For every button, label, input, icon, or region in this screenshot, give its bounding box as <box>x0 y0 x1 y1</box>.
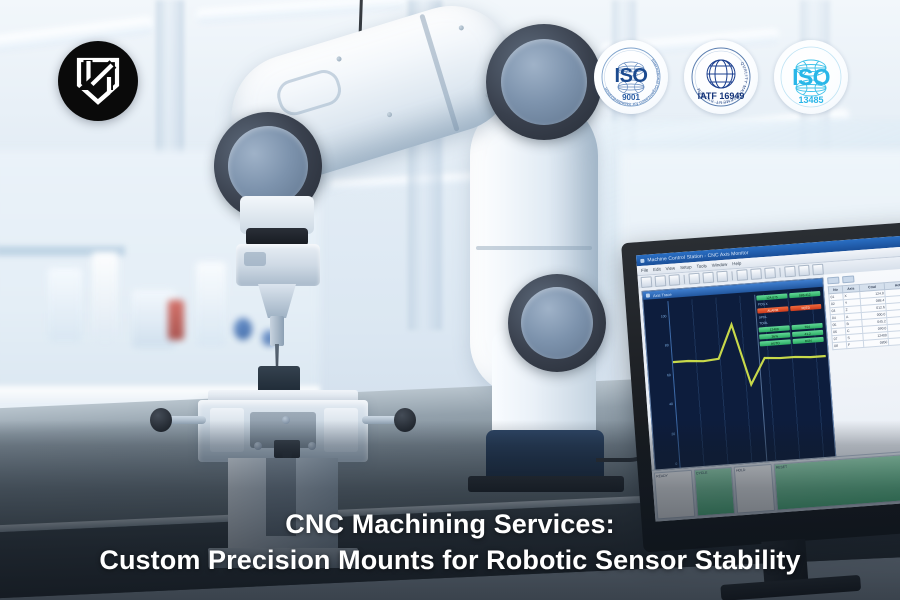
chart-window-icon <box>646 293 650 297</box>
menu-view[interactable]: View <box>665 266 675 272</box>
y-tick: 100 <box>661 314 667 318</box>
window-icon <box>640 258 644 262</box>
cert-number: 13485 <box>798 95 823 105</box>
y-tick: 80 <box>665 344 669 348</box>
cell-cmd: 0850 <box>863 339 889 348</box>
monitor-screen[interactable]: Machine Control Station - CNC Axis Monit… <box>636 235 900 521</box>
toolbar-copy-icon[interactable] <box>702 272 714 284</box>
data-filter-chip[interactable] <box>842 275 854 283</box>
toolbar-separator <box>684 275 686 284</box>
toolbar-open-icon[interactable] <box>655 275 667 287</box>
menu-window[interactable]: Window <box>712 262 728 268</box>
spindle-shaft <box>270 316 284 346</box>
cell-act: 0846 <box>889 337 900 346</box>
arm-slot <box>273 66 345 119</box>
menu-setup[interactable]: Setup <box>680 264 692 270</box>
data-filter-chip[interactable] <box>827 277 839 285</box>
cert-acronym: ISO <box>792 64 830 90</box>
toolbar-run-icon[interactable] <box>736 269 748 281</box>
arm-screw <box>458 25 464 31</box>
y-tick: 60 <box>667 373 671 377</box>
vise-knob-right <box>394 408 416 432</box>
cell-no: 08 <box>832 342 846 350</box>
robot-mounting-plate <box>468 476 624 492</box>
readout-value: 124.075 <box>756 293 787 300</box>
cert-acronym: ISO <box>615 65 648 87</box>
vise-jaw-right <box>324 408 358 452</box>
headline: CNC Machining Services: Custom Precision… <box>0 506 900 578</box>
certification-badges: International Organization for Standardi… <box>594 40 848 114</box>
toolbar-chart-icon[interactable] <box>784 266 796 278</box>
menu-tools[interactable]: Tools <box>696 263 707 269</box>
vise-knob-left <box>150 408 172 432</box>
spindle-taper <box>258 284 296 318</box>
menu-help[interactable]: Help <box>732 261 741 267</box>
cnc-control-monitor[interactable]: Machine Control Station - CNC Axis Monit… <box>621 221 900 552</box>
cert-number: IATF 16949 <box>698 91 745 101</box>
readout-value: T04 <box>791 323 822 330</box>
menu-file[interactable]: File <box>641 267 648 273</box>
promo-banner: Machine Control Station - CNC Axis Monit… <box>0 0 900 600</box>
headline-line-2: Custom Precision Mounts for Robotic Sens… <box>0 542 900 578</box>
arm-seam <box>419 14 459 132</box>
menu-edit[interactable]: Edit <box>653 267 661 273</box>
y-tick: 40 <box>669 403 673 407</box>
vise-bolt <box>254 442 262 450</box>
readout-value: 36% <box>759 332 790 339</box>
status-panel-reset[interactable]: RESET <box>774 453 900 511</box>
alarm-value: ALARM <box>757 306 788 313</box>
chart-title: Axis Trace <box>653 291 672 297</box>
toolbar-new-icon[interactable] <box>641 276 653 288</box>
toolbar-cut-icon[interactable] <box>688 273 700 285</box>
robot-base <box>486 430 604 482</box>
cert-badge-iso-13485[interactable]: ISO 13485 <box>774 40 848 114</box>
headline-line-1: CNC Machining Services: <box>0 506 900 542</box>
vise-bolt <box>282 416 290 424</box>
toolbar-separator <box>731 271 733 280</box>
base-joint-cap <box>521 287 593 359</box>
axis-data-table: No Axis Cmd Act 01 X 124.0 <box>828 280 900 350</box>
arm-screw <box>386 111 392 117</box>
cert-number: 9001 <box>622 93 640 102</box>
readout-value: 12400 <box>759 325 790 332</box>
company-logo[interactable] <box>58 41 138 121</box>
shoulder-joint <box>486 24 602 140</box>
vise-jaw-left <box>210 408 244 452</box>
vise-bolt <box>308 442 316 450</box>
tool-holder-notch <box>244 252 266 266</box>
toolbar-save-icon[interactable] <box>668 274 680 286</box>
toolbar-paste-icon[interactable] <box>716 271 728 283</box>
readout-value: 41.2 <box>792 330 823 337</box>
table-body: 01 X 124.0 124.1 02 Y 088.4 088.4 <box>829 288 900 350</box>
tool-holder-block <box>236 244 320 286</box>
y-tick: 0 <box>675 461 677 465</box>
base-joint <box>508 274 606 372</box>
arm-seam <box>476 246 592 250</box>
toolbar-settings-icon[interactable] <box>812 264 824 276</box>
cnc-software-window[interactable]: Machine Control Station - CNC Axis Monit… <box>636 235 900 521</box>
vise-handle-left <box>166 416 206 424</box>
alarm-label: FEED <box>790 304 821 311</box>
toolbar-stop-icon[interactable] <box>750 268 762 280</box>
shoulder-joint-cap <box>501 39 587 125</box>
toolbar-separator <box>779 268 781 277</box>
ls-shield-monogram-icon <box>72 55 124 107</box>
readout-column: 124.075 088.412 POS X ALARM FEED SPDL <box>756 291 824 347</box>
arm-screw <box>336 56 342 62</box>
cell-axis: F <box>846 340 863 348</box>
toolbar-table-icon[interactable] <box>798 265 810 277</box>
y-tick: 20 <box>671 432 675 436</box>
cert-badge-iso-9001[interactable]: International Organization for Standardi… <box>594 40 668 114</box>
toolbar-zoom-icon[interactable] <box>764 267 776 279</box>
cert-badge-iatf-16949[interactable]: QUALITY MANAGEMENT SYSTEM IATF 16949 <box>684 40 758 114</box>
readout-value: 088.412 <box>789 291 820 298</box>
